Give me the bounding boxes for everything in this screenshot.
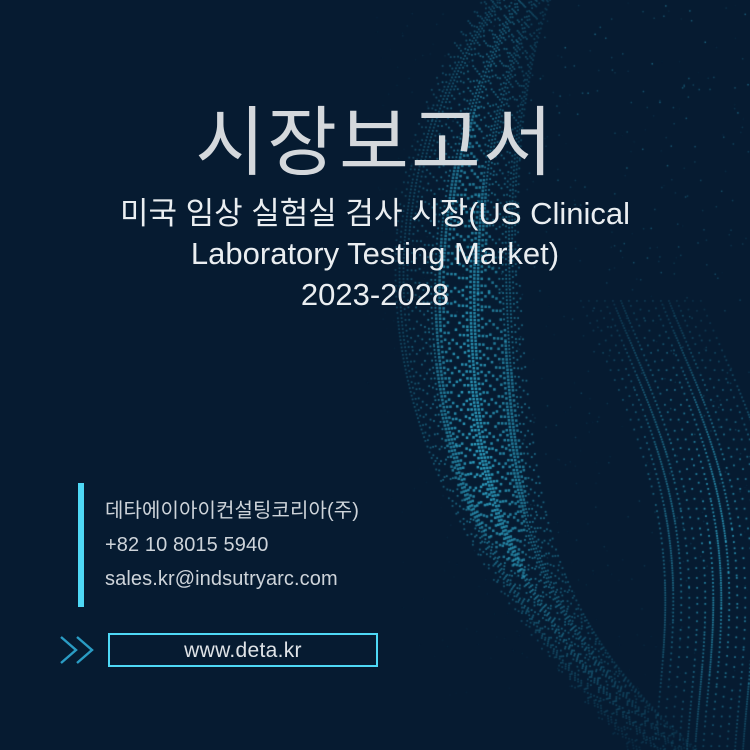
subtitle-line-2: Laboratory Testing Market) <box>20 234 730 274</box>
poster-content-layer: 시장보고서 미국 임상 실험실 검사 시장(US Clinical Labora… <box>0 0 750 750</box>
website-row: www.deta.kr <box>56 628 378 672</box>
contact-email-address[interactable]: sales.kr@indsutryarc.com <box>105 562 359 596</box>
page-title: 시장보고서 <box>0 106 750 182</box>
contact-company-name: 데타에이아이컨설팅코리아(주) <box>105 494 359 528</box>
contact-phone-number: +82 10 8015 5940 <box>105 528 359 562</box>
headline-block: 시장보고서 미국 임상 실험실 검사 시장(US Clinical Labora… <box>0 106 750 315</box>
website-url-button[interactable]: www.deta.kr <box>108 633 378 667</box>
subtitle: 미국 임상 실험실 검사 시장(US Clinical Laboratory T… <box>0 194 750 315</box>
contact-block: 데타에이아이컨설팅코리아(주) +82 10 8015 5940 sales.k… <box>78 483 359 607</box>
subtitle-line-1: 미국 임상 실험실 검사 시장(US Clinical <box>20 194 730 234</box>
subtitle-line-3: 2023-2028 <box>20 275 730 315</box>
website-url-label: www.deta.kr <box>184 640 302 661</box>
market-report-poster: 시장보고서 미국 임상 실험실 검사 시장(US Clinical Labora… <box>0 0 750 750</box>
double-chevron-right-icon <box>56 628 100 672</box>
contact-accent-bar <box>78 483 84 607</box>
contact-lines: 데타에이아이컨설팅코리아(주) +82 10 8015 5940 sales.k… <box>105 494 359 596</box>
